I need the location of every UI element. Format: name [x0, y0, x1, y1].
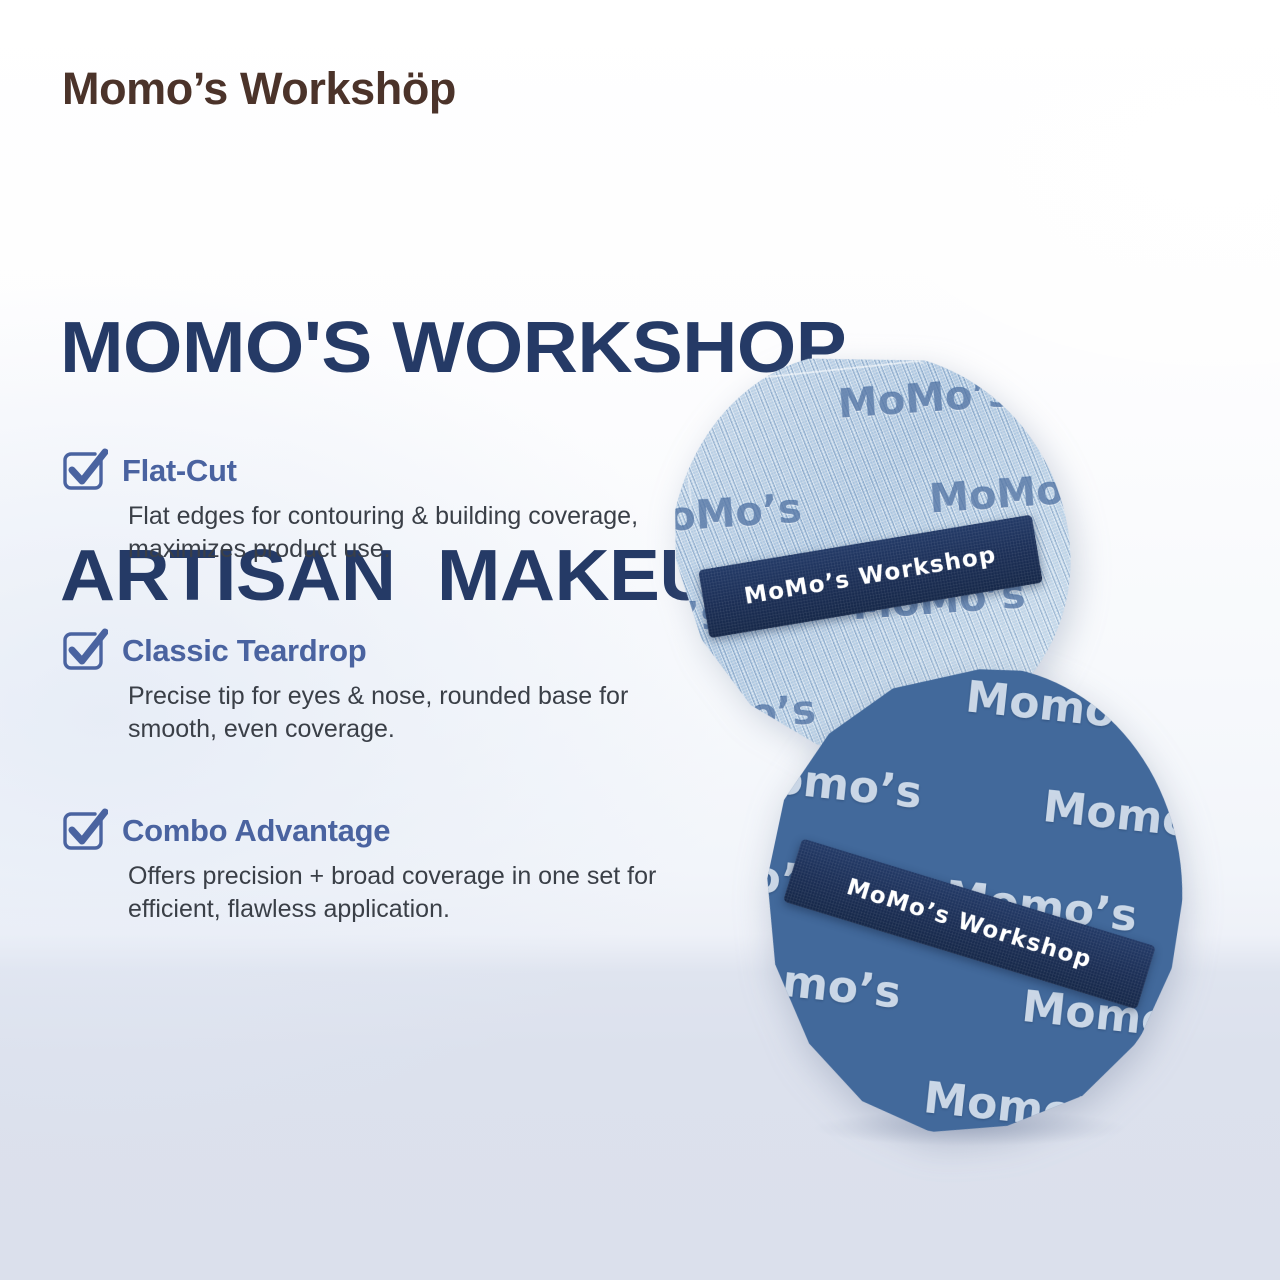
product-banner: Momo’s Workshöp MOMO'S WORKSHOP ARTISAN … — [0, 0, 1280, 1280]
product-teardrop-puff: Momo’sMomo’s Momo’sMomo’s Momo’sMomo’s M… — [739, 644, 1206, 1155]
product-images: MoMo’sMoMo’s MoMo’sMoMo’s MoMo’sMoMo’s M… — [0, 0, 1280, 1280]
